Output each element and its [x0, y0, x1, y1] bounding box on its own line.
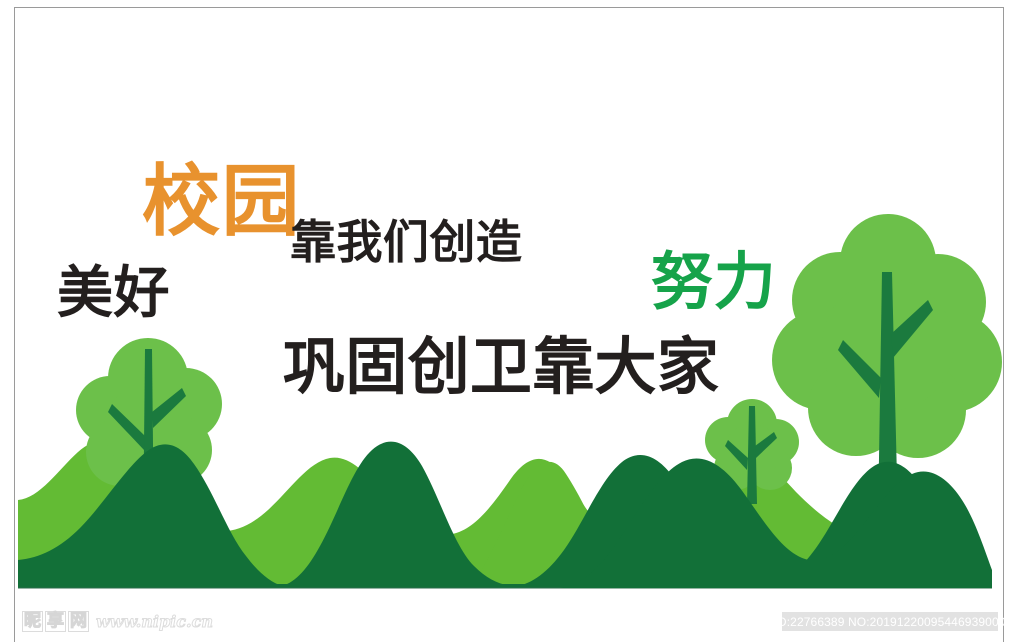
image-id-label: ID:22766389 NO:20191220095446939000 — [774, 615, 1005, 629]
text-effort: 努力 — [651, 251, 776, 313]
text-beautiful: 美好 — [57, 266, 170, 322]
text-slogan: 巩固创卫靠大家 — [283, 336, 719, 398]
image-id-band: ID:22766389 NO:20191220095446939000 — [782, 612, 998, 631]
illustration-canvas: 校园 靠我们创造 美好 努力 巩固创卫靠大家 昵 享 网 www.nipic.c… — [0, 0, 1024, 642]
text-created-by-us: 靠我们创造 — [290, 219, 522, 265]
text-campus: 校园 — [142, 163, 301, 241]
